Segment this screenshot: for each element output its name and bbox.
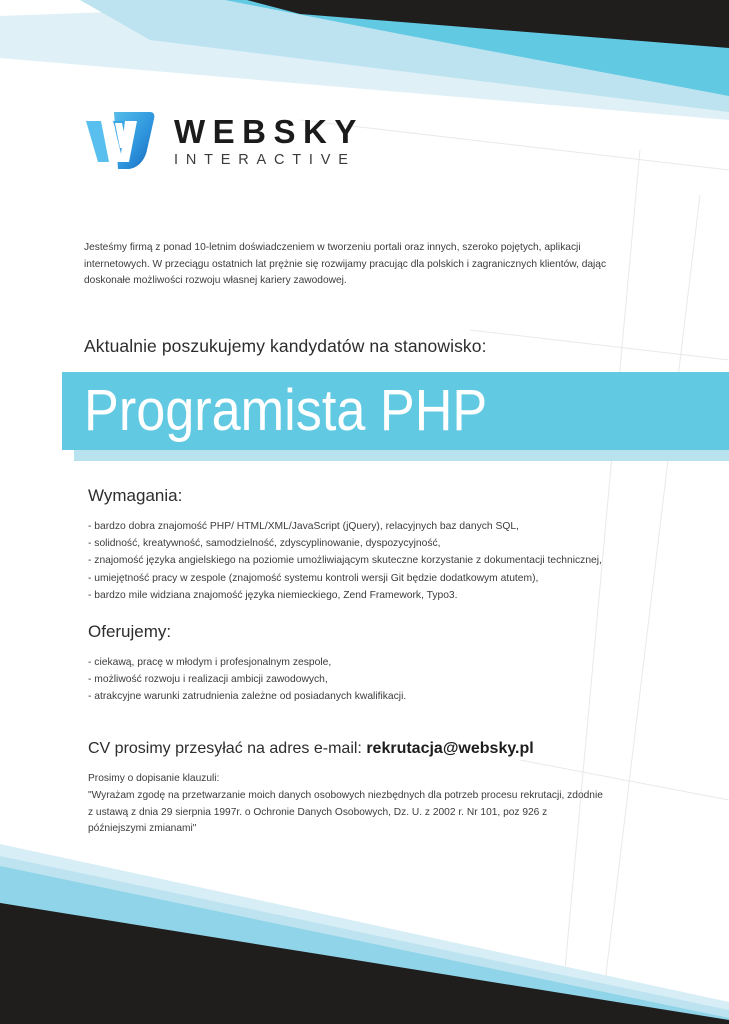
- lead-in-text: Aktualnie poszukujemy kandydatów na stan…: [84, 336, 487, 357]
- offer-section: Oferujemy: - ciekawą, pracę w młodym i p…: [88, 622, 648, 706]
- list-item: - możliwość rozwoju i realizacji ambicji…: [88, 671, 648, 688]
- requirements-section: Wymagania: - bardzo dobra znajomość PHP/…: [88, 486, 648, 604]
- email-link[interactable]: rekrutacja@websky.pl: [366, 740, 533, 757]
- brand-tagline: INTERACTIVE: [174, 153, 364, 169]
- bottom-band-pale: [0, 844, 729, 1024]
- bottom-band-cyan: [0, 866, 729, 1024]
- offer-heading: Oferujemy:: [88, 622, 648, 642]
- list-item: - ciekawą, pracę w młodym i profesjonaln…: [88, 654, 648, 671]
- list-item: - znajomość języka angielskiego na pozio…: [88, 552, 648, 569]
- cv-label: CV prosimy przesyłać na adres e-mail:: [88, 740, 362, 757]
- top-band-light: [80, 0, 729, 112]
- brand-logo: WEBSKY INTERACTIVE: [84, 110, 364, 172]
- requirements-heading: Wymagania:: [88, 486, 648, 506]
- page-title: Programista PHP: [84, 374, 487, 448]
- websky-w-shield-icon: [84, 110, 156, 172]
- intro-paragraph: Jesteśmy firmą z ponad 10-letnim doświad…: [84, 240, 632, 290]
- recruitment-poster: WEBSKY INTERACTIVE Jesteśmy firmą z pona…: [0, 0, 729, 1024]
- bottom-wedge-dark: [0, 903, 729, 1024]
- clause-intro: Prosimy o dopisanie klauzuli:: [88, 771, 648, 787]
- list-item: - atrakcyjne warunki zatrudnienia zależn…: [88, 688, 648, 705]
- top-bar-dark: [247, 0, 729, 48]
- list-item: - bardzo dobra znajomość PHP/ HTML/XML/J…: [88, 518, 648, 535]
- top-band-pale: [0, 0, 729, 120]
- contact-section: CV prosimy przesyłać na adres e-mail: re…: [88, 740, 648, 838]
- list-item: - solidność, kreatywność, samodzielność,…: [88, 535, 648, 552]
- clause-text: "Wyrażam zgodę na przetwarzanie moich da…: [88, 788, 608, 838]
- offer-list: - ciekawą, pracę w młodym i profesjonaln…: [88, 654, 648, 706]
- list-item: - umiejętność pracy w zespole (znajomość…: [88, 570, 648, 587]
- top-band-cyan: [225, 0, 729, 96]
- requirements-list: - bardzo dobra znajomość PHP/ HTML/XML/J…: [88, 518, 648, 604]
- cv-instruction: CV prosimy przesyłać na adres e-mail: re…: [88, 740, 648, 758]
- brand-name: WEBSKY: [174, 115, 364, 149]
- bottom-band-light: [0, 856, 729, 1024]
- list-item: - bardzo mile widziana znajomość języka …: [88, 587, 648, 604]
